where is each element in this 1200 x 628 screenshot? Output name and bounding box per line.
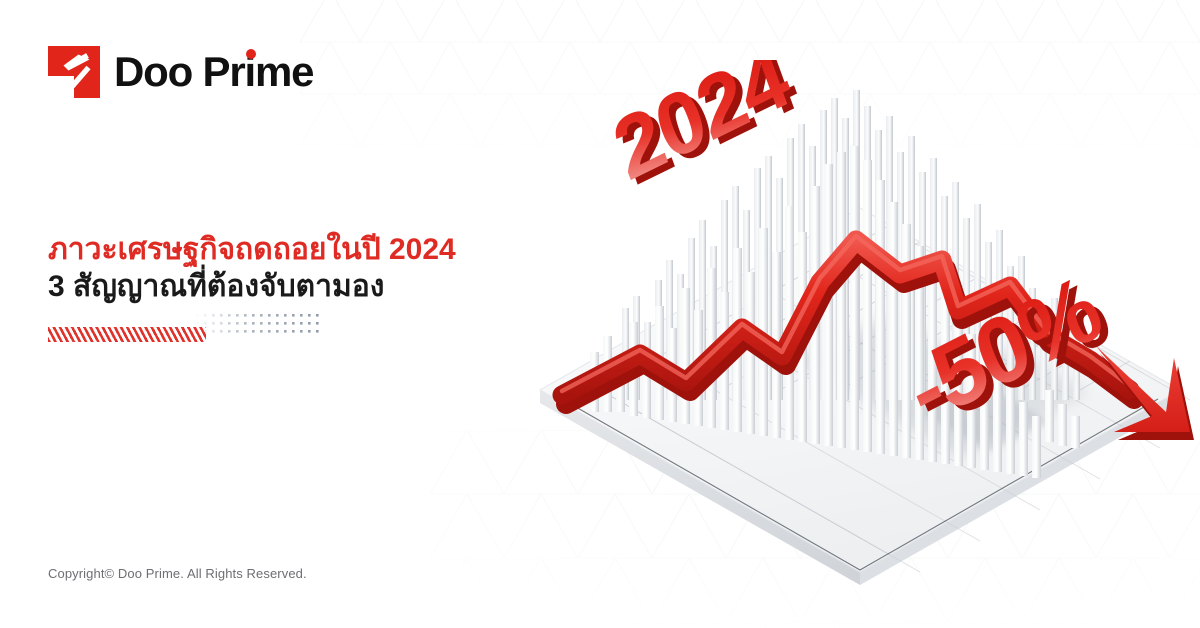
- logo-i-dot-icon: [246, 49, 256, 59]
- brand-logo[interactable]: Doo Prime: [48, 46, 313, 98]
- decorative-divider: [48, 322, 318, 346]
- promo-banner: Doo Prime ภาวะเศรษฐกิจถดถอยในปี 2024 3 ส…: [0, 0, 1200, 628]
- dot-grid-pattern-icon: [194, 312, 322, 342]
- isometric-declining-bar-chart-3d: 2024 2024 -50% -50%: [490, 60, 1200, 620]
- diagonal-hatch-stripes-icon: [48, 327, 206, 342]
- doo-prime-square-pen-mark-icon: [48, 46, 100, 98]
- copyright-text: Copyright© Doo Prime. All Rights Reserve…: [48, 566, 307, 581]
- brand-name-text: Doo Prime: [114, 48, 313, 95]
- brand-wordmark: Doo Prime: [114, 51, 313, 93]
